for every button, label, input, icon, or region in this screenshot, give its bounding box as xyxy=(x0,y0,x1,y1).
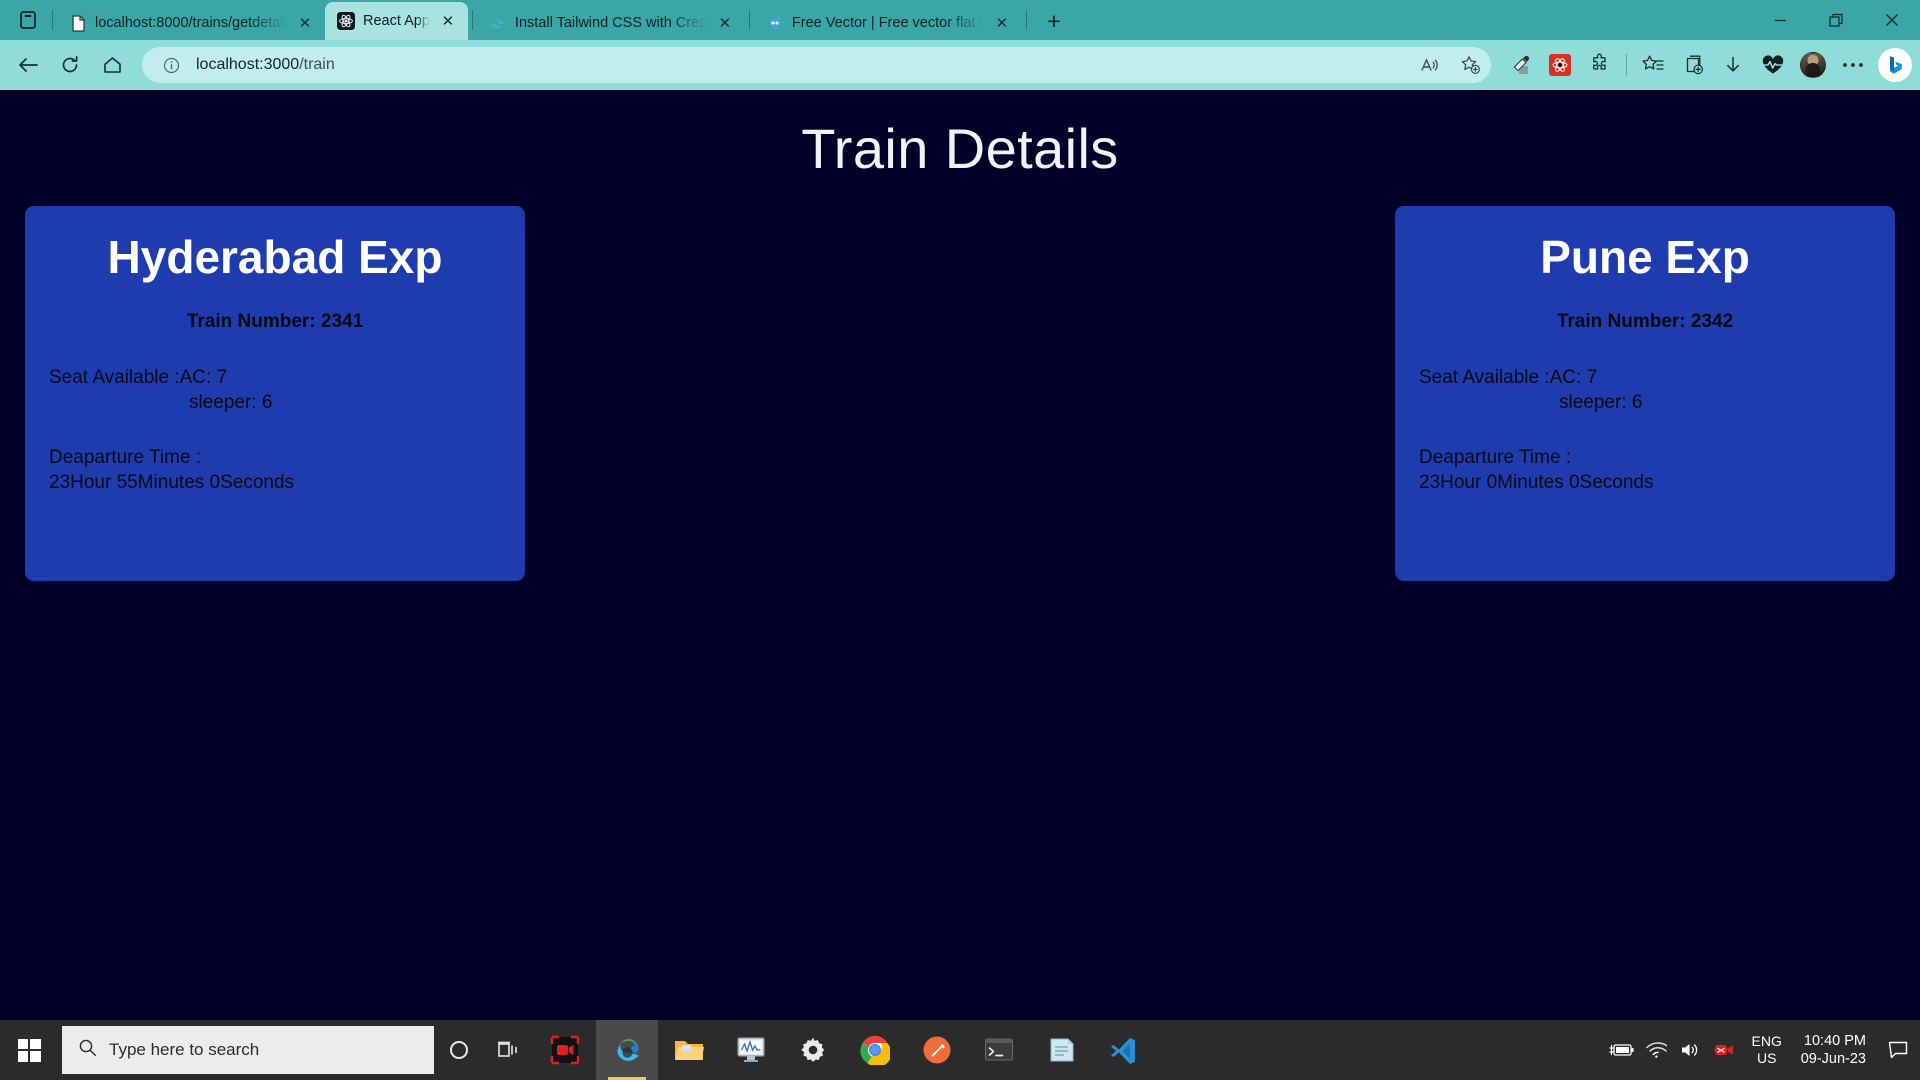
taskbar-app-screen-recorder[interactable] xyxy=(534,1020,596,1080)
spacer xyxy=(49,415,501,445)
search-placeholder: Type here to search xyxy=(109,1040,259,1060)
page-title: Train Details xyxy=(0,90,1920,181)
info-circle-icon[interactable] xyxy=(156,50,186,80)
close-button[interactable] xyxy=(1864,0,1920,40)
clock-time: 10:40 PM xyxy=(1804,1032,1866,1050)
tab-close-icon[interactable]: ✕ xyxy=(295,13,315,33)
tab-strip: localhost:8000/trains/getdetails/ ✕ Reac… xyxy=(0,0,1920,40)
windows-logo xyxy=(18,1039,41,1062)
departure-label: Deaparture Time : xyxy=(1419,445,1871,470)
departure-value: 23Hour 0Minutes 0Seconds xyxy=(1419,470,1871,495)
seat-available: Seat Available :AC: 7 xyxy=(1419,365,1871,390)
taskbar-app-google-chrome[interactable] xyxy=(844,1020,906,1080)
task-view-icon[interactable] xyxy=(484,1020,534,1080)
tab-title: Free Vector | Free vector flat desi xyxy=(792,15,984,31)
new-tab-button[interactable]: + xyxy=(1037,4,1071,38)
toolbar-divider xyxy=(1626,54,1627,76)
tab-close-icon[interactable]: ✕ xyxy=(992,13,1012,33)
tab-divider xyxy=(52,10,53,30)
tab-close-icon[interactable]: ✕ xyxy=(715,13,735,33)
tailwind-icon xyxy=(489,14,507,32)
recorder-tray-icon[interactable] xyxy=(1707,1020,1741,1080)
train-card-hyderabad[interactable]: Hyderabad Exp Train Number: 2341 Seat Av… xyxy=(25,206,525,581)
profile-avatar[interactable] xyxy=(1794,46,1832,84)
tab-3[interactable]: Free Vector | Free vector flat desi ✕ xyxy=(754,6,1022,40)
taskbar-app-task-manager[interactable] xyxy=(720,1020,782,1080)
document-icon xyxy=(69,14,87,32)
tab-0[interactable]: localhost:8000/trains/getdetails/ ✕ xyxy=(57,6,325,40)
freepik-icon xyxy=(766,14,784,32)
address-bar[interactable]: localhost:3000/train xyxy=(142,47,1491,83)
train-card-pune[interactable]: Pune Exp Train Number: 2342 Seat Availab… xyxy=(1395,206,1895,581)
toolbar-icons xyxy=(1501,46,1912,84)
window-controls xyxy=(1752,0,1920,40)
restore-button[interactable] xyxy=(1808,0,1864,40)
tab-title: localhost:8000/trains/getdetails/ xyxy=(95,15,287,31)
settings-more-icon[interactable] xyxy=(1834,46,1872,84)
tab-2[interactable]: Install Tailwind CSS with Create R ✕ xyxy=(477,6,745,40)
language-top: ENG xyxy=(1752,1033,1782,1051)
train-name: Hyderabad Exp xyxy=(49,232,501,283)
clock-date: 09-Jun-23 xyxy=(1801,1050,1866,1068)
windows-taskbar: Type here to search xyxy=(0,1020,1920,1080)
sleeper-available: sleeper: 6 xyxy=(1419,390,1871,415)
speaker-icon[interactable] xyxy=(1673,1020,1707,1080)
react-devtools-icon[interactable] xyxy=(1541,46,1579,84)
tab-title: React App xyxy=(363,13,430,29)
tab-1-active[interactable]: React App ✕ xyxy=(325,2,468,40)
tab-divider xyxy=(472,10,473,30)
train-number: Train Number: 2342 xyxy=(1419,311,1871,333)
home-icon[interactable] xyxy=(92,45,132,85)
favorites-icon[interactable] xyxy=(1634,46,1672,84)
notification-icon[interactable] xyxy=(1880,1020,1916,1080)
taskbar-app-settings-gear[interactable] xyxy=(782,1020,844,1080)
downloads-icon[interactable] xyxy=(1714,46,1752,84)
back-arrow-icon[interactable] xyxy=(8,45,48,85)
departure-value: 23Hour 55Minutes 0Seconds xyxy=(49,470,501,495)
url-text[interactable]: localhost:3000/train xyxy=(196,56,1405,74)
sleeper-available: sleeper: 6 xyxy=(49,390,501,415)
react-icon xyxy=(337,12,355,30)
battery-charging-icon[interactable] xyxy=(1605,1020,1639,1080)
wifi-icon[interactable] xyxy=(1639,1020,1673,1080)
read-aloud-icon[interactable] xyxy=(1415,50,1445,80)
url-path: /train xyxy=(299,56,335,73)
seat-available: Seat Available :AC: 7 xyxy=(49,365,501,390)
eyedropper-icon[interactable] xyxy=(1501,46,1539,84)
avatar xyxy=(1800,52,1826,78)
tab-close-icon[interactable]: ✕ xyxy=(438,11,458,31)
browser-essentials-icon[interactable] xyxy=(1754,46,1792,84)
train-card-list: Hyderabad Exp Train Number: 2341 Seat Av… xyxy=(0,181,1920,581)
tab-actions-icon[interactable] xyxy=(8,0,48,40)
browser-window: localhost:8000/trains/getdetails/ ✕ Reac… xyxy=(0,0,1920,1080)
taskbar-app-postman[interactable] xyxy=(906,1020,968,1080)
train-number: Train Number: 2341 xyxy=(49,311,501,333)
taskbar-app-notepad[interactable] xyxy=(1030,1020,1092,1080)
language-bottom: US xyxy=(1757,1050,1776,1068)
taskbar-app-microsoft-edge[interactable] xyxy=(596,1020,658,1080)
spacer xyxy=(1419,415,1871,445)
clock[interactable]: 10:40 PM 09-Jun-23 xyxy=(1793,1020,1880,1080)
taskbar-app-vscode[interactable] xyxy=(1092,1020,1154,1080)
search-icon xyxy=(78,1038,97,1062)
url-host: localhost:3000 xyxy=(196,56,299,73)
minimize-button[interactable] xyxy=(1752,0,1808,40)
taskbar-app-terminal[interactable] xyxy=(968,1020,1030,1080)
tab-divider xyxy=(749,10,750,30)
tab-title: Install Tailwind CSS with Create R xyxy=(515,15,707,31)
cortana-icon[interactable] xyxy=(434,1020,484,1080)
collections-icon[interactable] xyxy=(1674,46,1712,84)
tab-divider xyxy=(1026,10,1027,30)
refresh-icon[interactable] xyxy=(50,45,90,85)
bing-copilot-icon[interactable] xyxy=(1878,48,1912,82)
departure-label: Deaparture Time : xyxy=(49,445,501,470)
windows-start-icon[interactable] xyxy=(0,1020,58,1080)
taskbar-app-file-explorer[interactable] xyxy=(658,1020,720,1080)
navigation-bar: localhost:3000/train xyxy=(0,40,1920,90)
taskbar-search-input[interactable]: Type here to search xyxy=(62,1026,434,1074)
train-name: Pune Exp xyxy=(1419,232,1871,283)
language-indicator[interactable]: ENG US xyxy=(1741,1020,1793,1080)
page-viewport: Train Details Hyderabad Exp Train Number… xyxy=(0,90,1920,1020)
add-favorite-icon[interactable] xyxy=(1455,50,1485,80)
extensions-icon[interactable] xyxy=(1581,46,1619,84)
system-tray: ENG US 10:40 PM 09-Jun-23 xyxy=(1605,1020,1920,1080)
